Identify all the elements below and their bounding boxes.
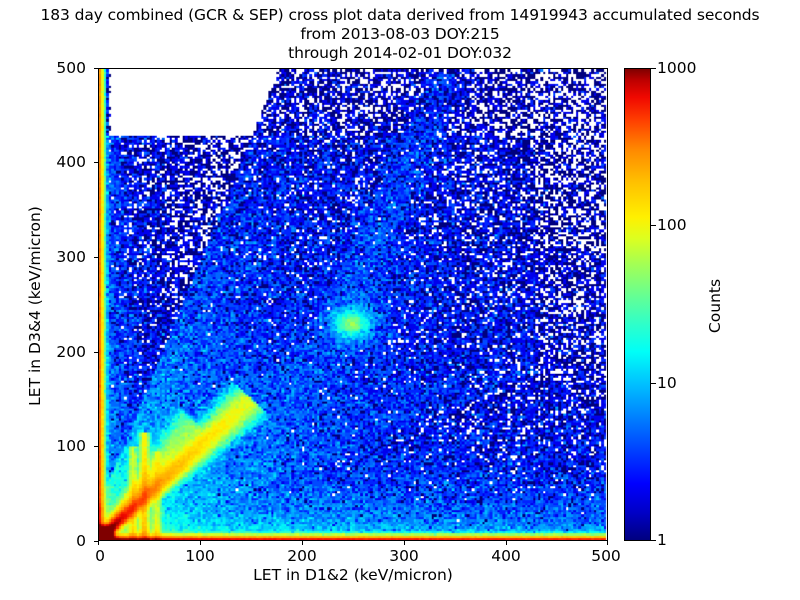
plot-area <box>98 68 608 541</box>
ytick-label-200: 200 <box>56 343 86 361</box>
xtick-mark-300 <box>404 541 405 545</box>
ytick-mark-200 <box>94 352 98 353</box>
ytick-mark-500 <box>94 68 98 69</box>
colorbar-tick-mark-1000 <box>651 68 656 69</box>
xtick-label-200: 200 <box>287 547 317 565</box>
colorbar <box>624 68 651 541</box>
colorbar-tick-label-1000: 1000 <box>657 59 696 77</box>
ytick-label-500: 500 <box>56 59 86 77</box>
ytick-label-0: 0 <box>76 532 86 550</box>
title-line-1: 183 day combined (GCR & SEP) cross plot … <box>0 6 800 25</box>
xtick-mark-400 <box>506 541 507 545</box>
colorbar-tick-label-100: 100 <box>657 216 687 234</box>
colorbar-tick-label-10: 10 <box>657 374 677 392</box>
ytick-mark-100 <box>94 446 98 447</box>
scatter-density-plot <box>99 69 607 540</box>
ytick-mark-300 <box>94 257 98 258</box>
title-line-2: from 2013-08-03 DOY:215 <box>0 25 800 44</box>
colorbar-tick-mark-100 <box>651 225 656 226</box>
xtick-label-400: 400 <box>491 547 521 565</box>
xtick-label-100: 100 <box>185 547 215 565</box>
colorbar-label: Counts <box>706 66 724 546</box>
xtick-mark-500 <box>607 541 608 545</box>
colorbar-tick-mark-10 <box>651 383 656 384</box>
ytick-label-300: 300 <box>56 248 86 266</box>
ytick-label-400: 400 <box>56 153 86 171</box>
xtick-label-500: 500 <box>591 547 621 565</box>
colorbar-tick-mark-1 <box>651 540 656 541</box>
xtick-mark-0 <box>98 541 99 545</box>
ytick-label-100: 100 <box>56 437 86 455</box>
chart-title: 183 day combined (GCR & SEP) cross plot … <box>0 6 800 63</box>
xtick-mark-100 <box>200 541 201 545</box>
xtick-label-300: 300 <box>389 547 419 565</box>
colorbar-gradient <box>624 68 651 541</box>
x-axis-label: LET in D1&2 (keV/micron) <box>98 566 608 584</box>
xtick-label-0: 0 <box>95 547 105 565</box>
y-axis-label: LET in D3&4 (keV/micron) <box>26 66 44 546</box>
colorbar-tick-label-1: 1 <box>657 531 667 549</box>
ytick-mark-400 <box>94 162 98 163</box>
figure-canvas: 183 day combined (GCR & SEP) cross plot … <box>0 0 800 600</box>
xtick-mark-200 <box>302 541 303 545</box>
